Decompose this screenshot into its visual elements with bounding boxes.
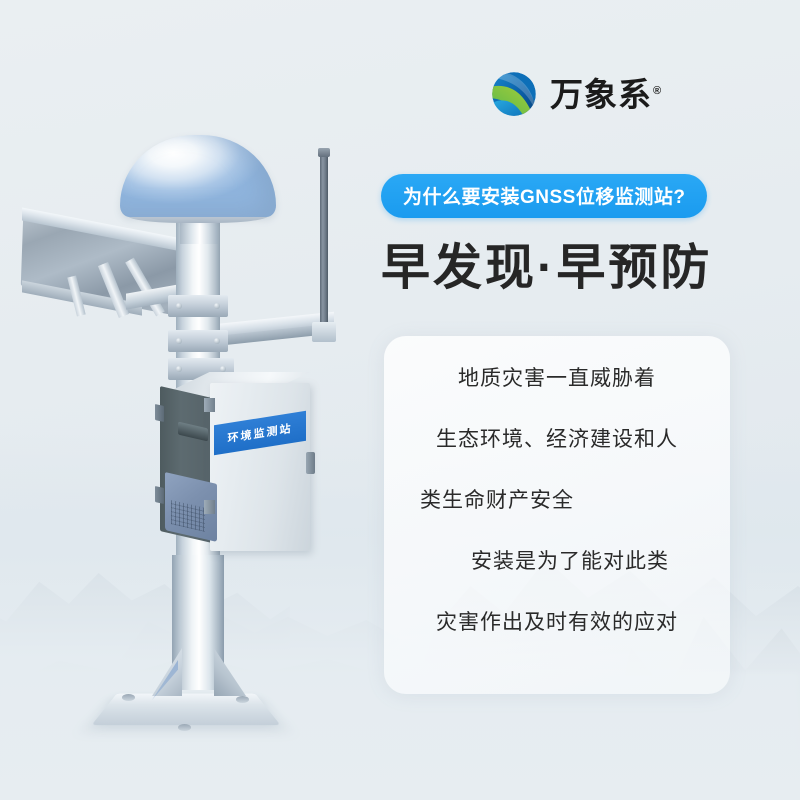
description-line: 类生命财产安全 xyxy=(398,490,716,511)
monitoring-station-illustration: 环境监测站 xyxy=(0,0,400,800)
question-banner: 为什么要安装GNSS位移监测站? xyxy=(381,174,707,218)
brand-name-text: 万象系 xyxy=(550,76,652,113)
base-gusset xyxy=(214,648,246,696)
lightning-rod xyxy=(320,152,328,327)
globe-swirl-icon xyxy=(488,68,540,120)
page-title: 早发现·早预防 xyxy=(381,228,712,299)
base-plate xyxy=(91,694,280,725)
base-bolt-hole xyxy=(178,724,191,731)
lightning-rod-cap xyxy=(318,148,330,157)
enclosure-latch xyxy=(306,452,315,474)
description-line: 地质灾害一直威胁着 xyxy=(398,368,716,389)
enclosure-bracket-tab xyxy=(204,398,215,412)
description-card-body: 地质灾害一直威胁着 生态环境、经济建设和人 类生命财产安全 安装是为了能对此类 … xyxy=(384,368,730,673)
base-gusset xyxy=(152,648,182,696)
enclosure-front xyxy=(210,383,310,551)
enclosure-hinge xyxy=(155,404,164,422)
description-card: 地质灾害一直威胁着 生态环境、经济建设和人 类生命财产安全 安装是为了能对此类 … xyxy=(384,336,730,694)
description-line: 生态环境、经济建设和人 xyxy=(398,429,716,450)
brand-logo: 万象系® xyxy=(488,68,662,120)
base-bolt-hole xyxy=(122,694,135,701)
poster-stage: 环境监测站 xyxy=(0,0,800,800)
gnss-dome-antenna xyxy=(120,135,276,217)
enclosure-hinge xyxy=(155,486,164,504)
registered-trademark-icon: ® xyxy=(653,85,662,97)
lightning-rod-mount xyxy=(312,322,336,342)
pole-clamp xyxy=(168,330,228,352)
pole-clamp xyxy=(168,295,228,317)
description-line: 安装是为了能对此类 xyxy=(398,551,716,572)
enclosure-bracket-tab xyxy=(204,500,215,514)
brand-name: 万象系® xyxy=(550,78,662,111)
content-column: 万象系® 为什么要安装GNSS位移监测站? 早发现·早预防 地质灾害一直威胁着 … xyxy=(370,0,800,800)
enclosure-label-text: 环境监测站 xyxy=(228,420,293,446)
description-line: 灾害作出及时有效的应对 xyxy=(398,612,716,633)
base-bolt-hole xyxy=(236,696,249,703)
question-banner-text: 为什么要安装GNSS位移监测站? xyxy=(403,187,685,208)
